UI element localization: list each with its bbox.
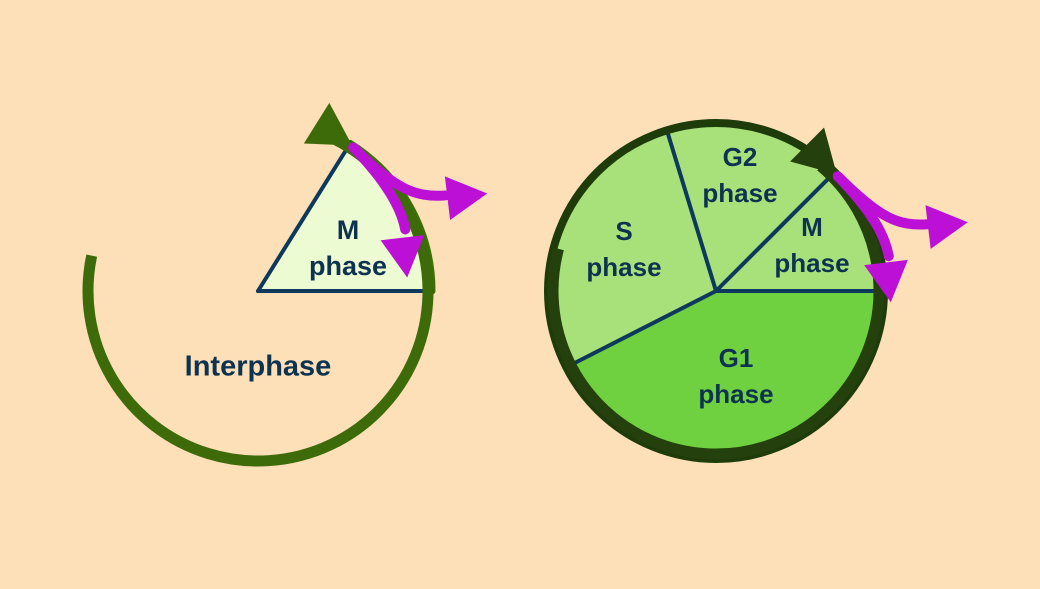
sector-label-m-phase-line2: phase — [774, 248, 849, 278]
sector-label-m-phase-line1: M — [337, 215, 360, 245]
sector-label-interphase: Interphase — [185, 351, 332, 383]
sector-label-m-phase-line1: M — [801, 212, 823, 242]
sector-label-g2-phase-line2: phase — [702, 178, 777, 208]
diagram-canvas: Interphase M phase M phase G2 phase S — [0, 0, 1040, 589]
sector-label-g2-phase-line1: G2 — [723, 142, 758, 172]
sector-label-g1-phase-line1: G1 — [719, 343, 754, 373]
sector-label-s-phase-line1: S — [615, 216, 632, 246]
cell-cycle-diagram: Interphase M phase M phase G2 phase S — [0, 0, 1040, 589]
sector-label-m-phase-line2: phase — [309, 251, 387, 281]
sector-label-s-phase-line2: phase — [586, 252, 661, 282]
sector-label-g1-phase-line2: phase — [698, 379, 773, 409]
